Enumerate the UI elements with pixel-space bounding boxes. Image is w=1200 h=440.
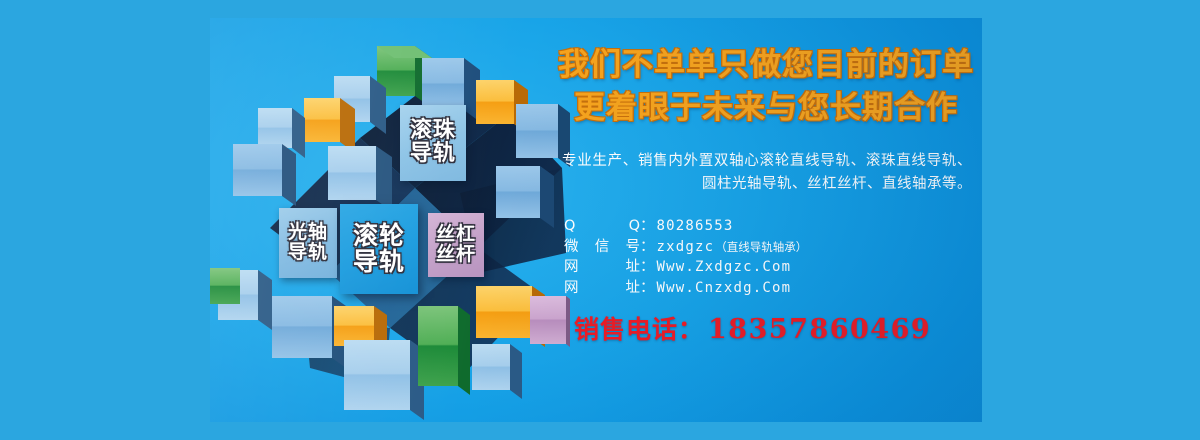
contact-value-website-2[interactable]: Www.Cnzxdg.Com <box>657 278 792 299</box>
sales-phone[interactable]: 销售电话： 18357860469 <box>574 310 982 346</box>
description-text: 专业生产、销售内外置双轴心滚轮直线导轨、滚珠直线导轨、圆柱光轴导轨、丝杠丝杆、直… <box>562 150 972 197</box>
cube-blue-bottom-center <box>344 340 424 420</box>
contact-row-qq: Q Q ： 80286553 <box>564 216 982 237</box>
contact-label-website-1: 网 址 <box>564 257 640 278</box>
contact-label-wechat: 微信号 <box>564 237 640 258</box>
contact-colon-website-2: ： <box>640 278 655 299</box>
sales-phone-label: 销售电话： <box>574 310 704 346</box>
product-chip-shaft-rail[interactable]: 光轴 导轨 <box>279 208 337 278</box>
page-root: 滚珠 导轨 光轴 导轨 滚轮 导轨 丝杠 丝杆 我们不单单只做您目前的订单 更着… <box>0 0 1200 440</box>
headline: 我们不单单只做您目前的订单 更着眼于未来与您长期合作 <box>550 44 982 130</box>
product-chip-roller-rail-line2: 导轨 <box>353 249 405 275</box>
contact-list: Q Q ： 80286553 微信号 ： zxdgzc （直线导轨轴承） 网 址… <box>564 216 982 298</box>
contact-row-wechat: 微信号 ： zxdgzc （直线导轨轴承） <box>564 237 982 258</box>
promo-banner: 滚珠 导轨 光轴 导轨 滚轮 导轨 丝杠 丝杆 我们不单单只做您目前的订单 更着… <box>210 18 982 422</box>
contact-row-website-1: 网 址 ： Www.Zxdgzc.Com <box>564 257 982 278</box>
banner-content: 我们不单单只做您目前的订单 更着眼于未来与您长期合作 专业生产、销售内外置双轴心… <box>550 18 982 422</box>
cube-blue-lower-right <box>472 344 522 399</box>
product-chip-lead-screw-line2: 丝杆 <box>436 245 476 265</box>
contact-note-wechat: （直线导轨轴承） <box>715 237 807 258</box>
contact-label-qq: Q Q <box>564 216 640 237</box>
contact-colon-wechat: ： <box>640 237 655 258</box>
cube-blue-left-mid <box>233 144 296 206</box>
headline-line-1: 我们不单单只做您目前的订单 <box>550 44 982 87</box>
product-chip-lead-screw[interactable]: 丝杠 丝杆 <box>428 213 484 277</box>
contact-colon-website-1: ： <box>640 257 655 278</box>
cube-green-lower <box>418 306 470 395</box>
sales-phone-number[interactable]: 18357860469 <box>708 314 931 345</box>
headline-line-2: 更着眼于未来与您长期合作 <box>550 87 982 130</box>
contact-value-wechat[interactable]: zxdgzc <box>657 237 715 258</box>
product-chip-ball-rail-line2: 导轨 <box>410 143 456 166</box>
product-chip-roller-rail-line1: 滚轮 <box>353 223 405 249</box>
product-chip-shaft-rail-line2: 导轨 <box>288 243 328 263</box>
product-chip-ball-rail[interactable]: 滚珠 导轨 <box>400 105 466 181</box>
product-chip-roller-rail[interactable]: 滚轮 导轨 <box>340 204 418 294</box>
contact-label-website-2: 网 址 <box>564 278 640 299</box>
cube-orange-left <box>304 98 355 153</box>
contact-colon-qq: ： <box>640 216 655 237</box>
contact-value-website-1[interactable]: Www.Zxdgzc.Com <box>657 257 792 278</box>
product-chip-ball-rail-line1: 滚珠 <box>410 120 456 143</box>
cube-green-far-left <box>210 268 240 304</box>
contact-row-website-2: 网 址 ： Www.Cnzxdg.Com <box>564 278 982 299</box>
contact-value-qq[interactable]: 80286553 <box>657 216 734 237</box>
